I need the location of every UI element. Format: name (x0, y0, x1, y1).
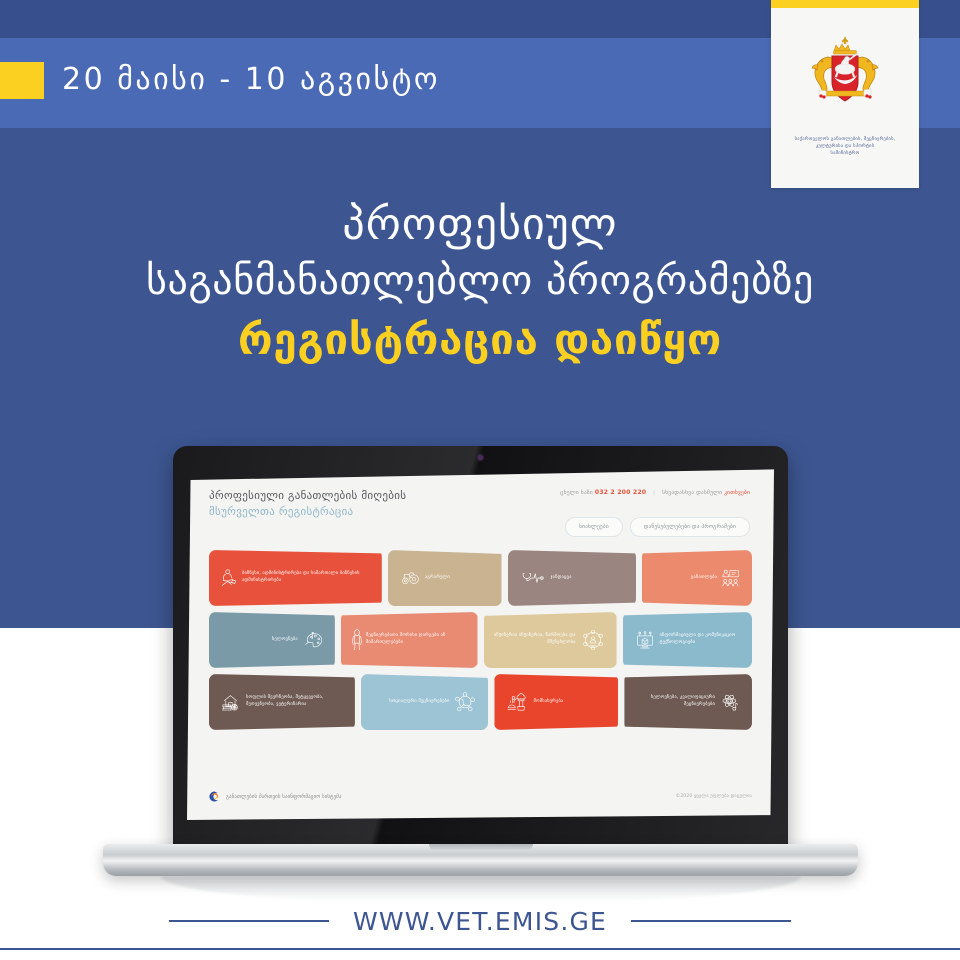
url-rule-left (169, 920, 329, 922)
yellow-accent-tab (0, 62, 44, 99)
category-tile-label: აგრარული (425, 575, 450, 582)
standing-person-icon (351, 629, 362, 650)
site-footer: განათლების მართვის საინფორმაციო სისტემა … (209, 787, 752, 806)
category-tile[interactable]: სოციალური მეცნიერებები (361, 674, 489, 730)
category-tile-label: განათლება (691, 575, 717, 582)
footer-brand-label: განათლების მართვის საინფორმაციო სისტემა (226, 794, 342, 800)
hotline-label: ცხელი ხაზი (560, 490, 593, 496)
ministry-emblem-card: საქართველოს განათლების, მეცნიერების, კულ… (771, 0, 919, 188)
category-tile-label: სოფლის მეურნეობა, მეტყევეობა, მეთევზეობა… (246, 695, 348, 708)
ministry-name-label: საქართველოს განათლების, მეცნიერების, კულ… (779, 136, 911, 157)
bottom-accent-line (0, 948, 960, 950)
laptop-screen: პროფესიული განათლების მიღების მსურველთა … (187, 468, 774, 820)
headline-line-1: პროფესიულ (0, 196, 960, 254)
house-books-icon (222, 693, 241, 710)
category-tile[interactable]: ჯანდაცვა (508, 550, 636, 606)
laptop-base (103, 844, 858, 876)
chef-cooking-icon (508, 693, 528, 712)
date-range-label: 20 მაისი - 10 აგვისტო (62, 58, 440, 102)
utility-divider: | (653, 490, 655, 496)
3d-print-monitor-icon (635, 631, 654, 648)
category-tile[interactable]: ხელოვნება, კვალიფიციური მეცნიერებები (624, 674, 752, 730)
tile-row: ხელოვნებამეცნიერებათა შორისი დარგები ან … (209, 612, 752, 668)
headline-line-2: საგანმანათლებლო პროგრამებზე (0, 254, 960, 308)
webcam-icon (478, 455, 483, 460)
nav-pill-news[interactable]: სიახლეები (565, 517, 623, 537)
faq-link[interactable]: კითხვები (724, 490, 750, 496)
url-bar: WWW.VET.EMIS.GE (0, 900, 960, 942)
tile-row: ბიზნესი, ადმინისტრირება და სამართალი ბიზ… (209, 550, 752, 606)
palette-brush-icon (304, 632, 323, 648)
category-tile-label: ბიზნესი, ადმინისტრირება და სამართალი ბიზ… (242, 571, 375, 584)
website-viewport: პროფესიული განათლების მიღების მსურველთა … (187, 468, 774, 820)
process-network-icon (582, 630, 603, 650)
category-tile-label: მეცნიერებათა შორისი დარგები ან მიმართულე… (366, 633, 471, 646)
category-tile-label: მომსახურება (533, 699, 563, 706)
category-tile-label: სოციალური მეცნიერებები (389, 699, 449, 706)
laptop-reflection (161, 876, 801, 902)
category-tile[interactable]: ინფორმაციული და კომუნიკაციო ტექნოლოგიები (623, 612, 752, 668)
headline-block: პროფესიულ საგანმანათლებლო პროგრამებზე რე… (0, 196, 960, 368)
laptop-lid: პროფესიული განათლების მიღების მსურველთა … (173, 446, 788, 851)
category-tile[interactable]: ბიზნესი, ადმინისტრირება და სამართალი ბიზ… (209, 550, 382, 606)
globe-social-icon (456, 692, 476, 712)
category-tile-label: ჯანდაცვა (551, 575, 572, 582)
category-tile[interactable]: ინჟინერია ინჟინერია, წარმოება და მშენებლ… (484, 612, 617, 668)
site-nav-pills: სიახლეები დაწესებულებები და პროგრამები (565, 517, 750, 537)
category-tile[interactable]: განათლება (642, 550, 752, 606)
stethoscope-ecg-icon (521, 571, 543, 585)
laptop-base-notch (429, 844, 533, 851)
headline-line-3: რეგისტრაცია დაიწყო (0, 312, 960, 368)
category-tile-label: ხელოვნება, კვალიფიციური მეცნიერებები (631, 695, 715, 708)
emis-swirl-logo-icon (209, 787, 220, 806)
hotline-number[interactable]: 032 2 200 220 (595, 489, 646, 496)
tile-row: სოფლის მეურნეობა, მეტყევეობა, მეთევზეობა… (209, 674, 752, 730)
georgia-coat-of-arms-icon (771, 30, 919, 122)
category-tile[interactable]: ხელოვნება (209, 612, 335, 668)
footer-copyright: ©2020 ყველა უფლება დაცულია (676, 794, 752, 799)
category-tile[interactable]: მომსახურება (494, 674, 618, 730)
category-tile-label: ინჟინერია ინჟინერია, წარმოება და მშენებლ… (491, 633, 576, 646)
category-tile[interactable]: სოფლის მეურნეობა, მეტყევეობა, მეთევზეობა… (209, 674, 355, 730)
laptop-mockup: პროფესიული განათლების მიღების მსურველთა … (103, 446, 858, 901)
poster-canvas: 20 მაისი - 10 აგვისტო (0, 0, 960, 960)
url-rule-right (631, 920, 791, 922)
site-utility-bar: ცხელი ხაზი 032 2 200 220 | სხვადასხვა და… (560, 489, 750, 496)
nav-pill-institutions-programs[interactable]: დაწესებულებები და პროგრამები (630, 517, 750, 537)
category-tile[interactable]: მეცნიერებათა შორისი დარგები ან მიმართულე… (341, 612, 478, 668)
faq-prefix-label: სხვადასხვა დასმული (662, 490, 722, 496)
category-tile-label: ინფორმაციული და კომუნიკაციო ტექნოლოგიები (660, 633, 745, 646)
category-tile[interactable]: აგრარული (388, 550, 502, 606)
website-url-label[interactable]: WWW.VET.EMIS.GE (353, 907, 607, 936)
sewing-worker-icon (221, 569, 237, 588)
footer-brand: განათლების მართვის საინფორმაციო სისტემა (209, 787, 342, 806)
atom-music-icon (721, 693, 740, 710)
category-tile-grid: ბიზნესი, ადმინისტრირება და სამართალი ბიზ… (209, 550, 752, 736)
emblem-yellow-strip (771, 0, 919, 8)
classroom-teacher-icon (722, 569, 739, 586)
category-tile-label: ხელოვნება (272, 637, 298, 644)
tractor-icon (400, 571, 419, 585)
